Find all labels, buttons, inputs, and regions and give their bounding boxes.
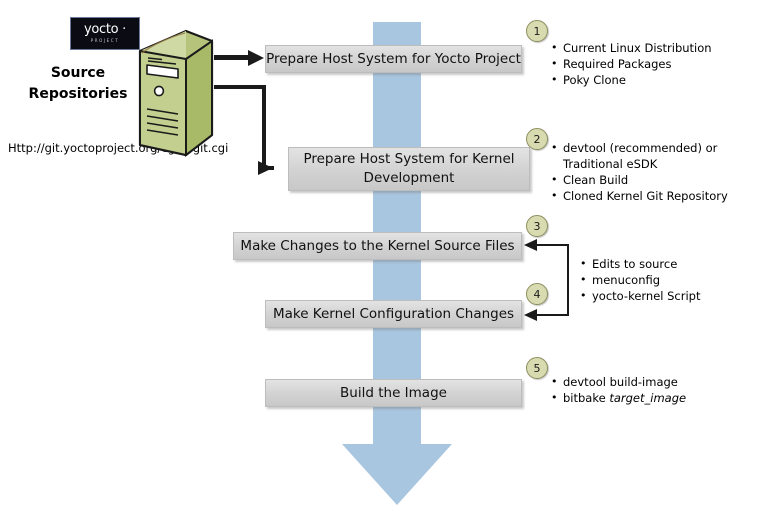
note-item: Poky Clone [551,72,712,88]
process-box-step5-label: Build the Image [340,384,447,403]
step-number-2: 2 [526,128,548,150]
process-box-step1[interactable]: Prepare Host System for Yocto Project [265,45,522,73]
down-arrow-icon [342,444,452,505]
note-text: Clean Build [563,173,628,187]
arrow-head-icon [524,309,537,321]
note-text: Poky Clone [563,73,626,87]
connector-server-to-step2-vertical [262,85,266,170]
note-item: devtool build-image [551,374,686,390]
process-box-step5[interactable]: Build the Image [265,379,522,407]
notes-list-steps-3-4: Edits to source menuconfig yocto-kernel … [580,256,701,304]
source-repositories-label: Source Repositories [18,63,138,105]
step-number-3: 3 [526,215,548,237]
step-number-4: 4 [526,283,548,305]
note-item: menuconfig [580,272,701,288]
arrow-head-icon [248,50,264,66]
note-text: Cloned Kernel Git Repository [563,189,728,203]
connector-server-to-step1 [214,55,252,60]
note-item: Edits to source [580,256,701,272]
note-text: bitbake [563,391,609,405]
note-text: devtool build-image [563,375,678,389]
server-icon [138,29,214,157]
note-item: yocto-kernel Script [580,288,701,304]
process-box-step2-label: Prepare Host System for Kernel Developme… [303,150,514,188]
note-text-italic: target_image [609,391,686,405]
step-number-2-text: 2 [534,133,541,146]
process-box-step2-label-line2: Development [364,170,455,186]
note-text: menuconfig [592,273,660,287]
note-item: Required Packages [551,56,712,72]
step-number-5-text: 5 [534,362,541,375]
yocto-logo-text: yocto · [84,23,126,36]
notes-list-step5: devtool build-image bitbake target_image [551,374,686,406]
source-label-line2: Repositories [18,84,138,105]
step-number-5: 5 [526,357,548,379]
notes-list-step1: Current Linux Distribution Required Pack… [551,40,712,88]
note-text: Edits to source [592,257,677,271]
note-text: Current Linux Distribution [563,41,712,55]
process-box-step2[interactable]: Prepare Host System for Kernel Developme… [288,147,530,191]
source-label-line1: Source [18,63,138,84]
note-item: bitbake target_image [551,390,686,406]
process-box-step1-label: Prepare Host System for Yocto Project [266,50,521,69]
arrow-head-icon [524,239,537,251]
notes-list-step2: devtool (recommended) or Traditional eSD… [551,140,728,204]
process-box-step3[interactable]: Make Changes to the Kernel Source Files [233,232,522,260]
bracket-connector-vertical [567,244,569,316]
yocto-project-logo: yocto · PROJECT [70,17,140,50]
arrow-head-icon [258,161,273,175]
note-text: Traditional eSDK [563,157,657,171]
process-box-step4[interactable]: Make Kernel Configuration Changes [265,300,522,328]
note-text: yocto-kernel Script [592,289,701,303]
bracket-connector-to-step4 [536,314,569,316]
note-item: Clean Build [551,172,728,188]
note-item: Cloned Kernel Git Repository [551,188,728,204]
connector-server-to-step2-horizontal [214,85,266,89]
note-item-continuation: Traditional eSDK [551,156,728,172]
note-text: devtool (recommended) or [563,141,717,155]
bracket-connector-to-step3 [536,244,569,246]
process-box-step3-label: Make Changes to the Kernel Source Files [240,237,514,256]
process-box-step4-label: Make Kernel Configuration Changes [273,305,514,324]
diagram-canvas: yocto · PROJECT Source Repositories Http… [0,0,769,517]
step-number-1: 1 [526,20,548,42]
step-number-4-text: 4 [534,288,541,301]
note-item: Current Linux Distribution [551,40,712,56]
note-item: devtool (recommended) or [551,140,728,156]
step-number-1-text: 1 [534,25,541,38]
note-text: Required Packages [563,57,672,71]
yocto-logo-subtext: PROJECT [91,37,119,44]
step-number-3-text: 3 [534,220,541,233]
process-box-step2-label-line1: Prepare Host System for Kernel [303,151,514,167]
